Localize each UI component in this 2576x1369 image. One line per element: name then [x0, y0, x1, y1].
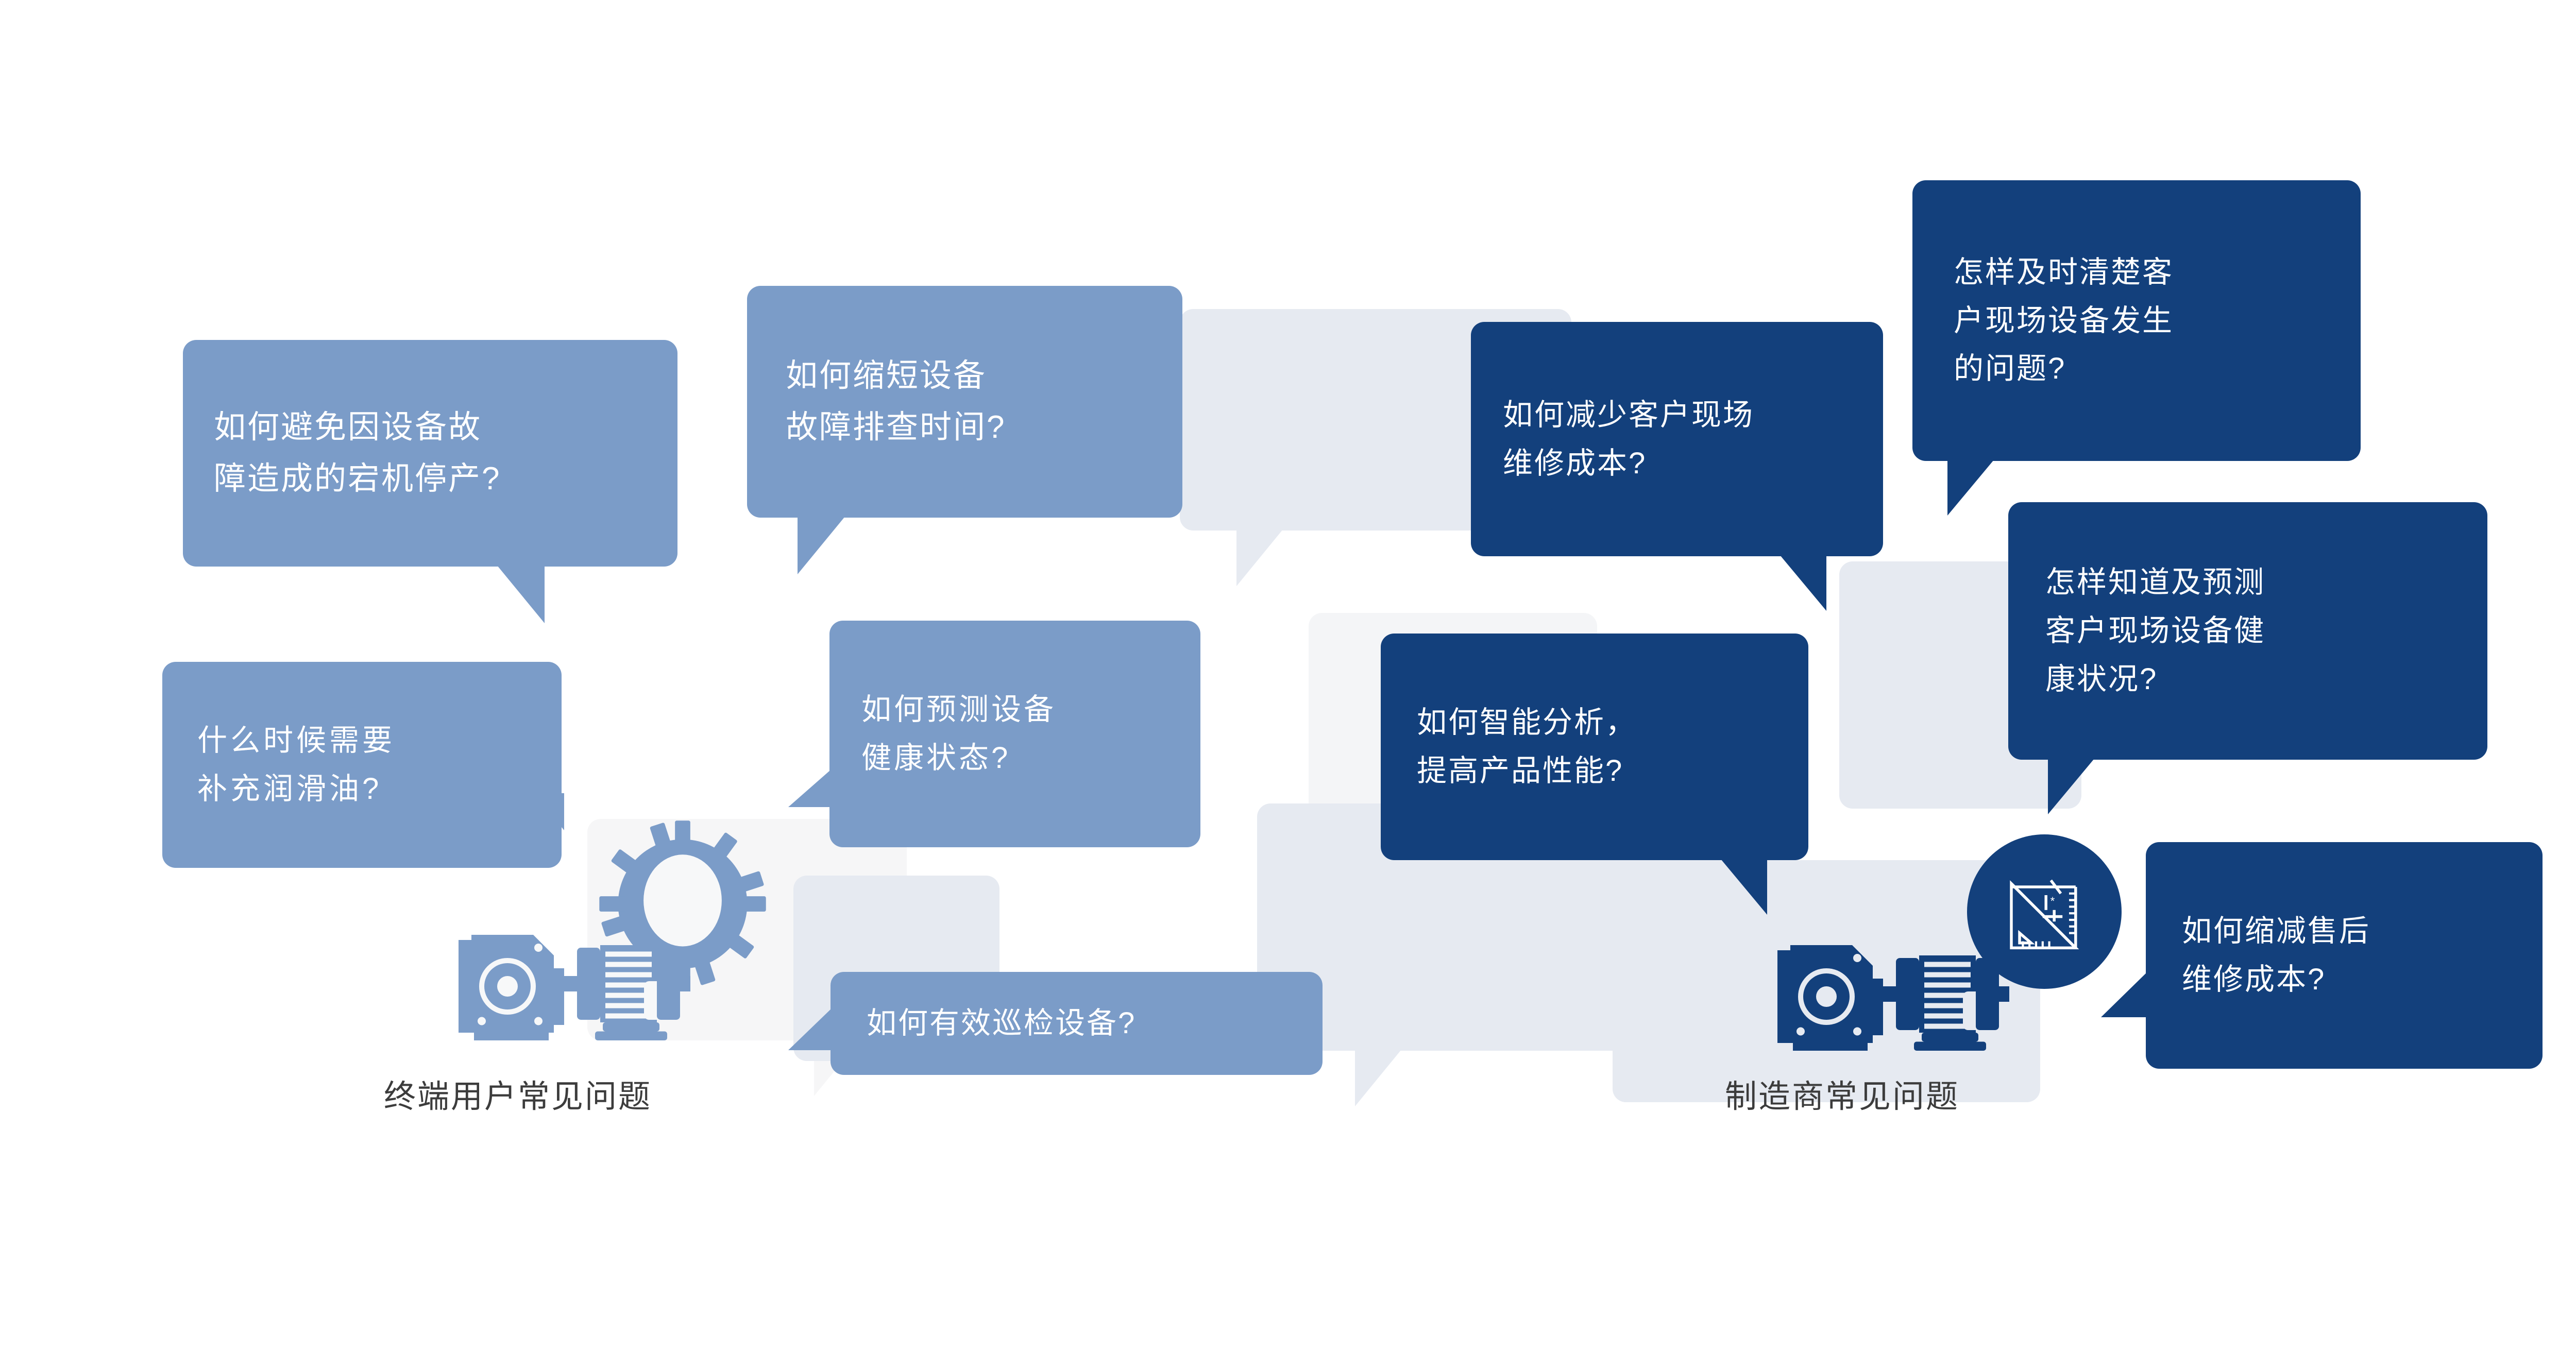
- bubble-text: 怎样及时清楚客 户现场设备发生 的问题?: [1954, 248, 2319, 393]
- bubble-tail: [533, 793, 564, 830]
- bubble-reduce-aftersales-cost[interactable]: 如何缩减售后 维修成本?: [2146, 842, 2543, 1069]
- bubble-text: 如何缩减售后 维修成本?: [2182, 907, 2506, 1004]
- gearmotor-icon: [453, 912, 726, 1040]
- caption-end-user: 终端用户常见问题: [384, 1070, 652, 1117]
- bubble-effective-inspection[interactable]: 如何有效巡检设备?: [831, 972, 1323, 1075]
- bubble-shorten-troubleshoot[interactable]: 如何缩短设备 故障排查时间?: [747, 286, 1182, 518]
- bubble-predict-onsite-health[interactable]: 怎样知道及预测 客户现场设备健 康状况?: [2008, 502, 2487, 760]
- bubble-lubricant-refill[interactable]: 什么时候需要 补充润滑油?: [162, 662, 562, 868]
- bubble-predict-health[interactable]: 如何预测设备 健康状态?: [829, 621, 1200, 847]
- bubble-text: 如何有效巡检设备?: [867, 999, 1286, 1048]
- svg-text:*: *: [2050, 895, 2055, 908]
- ghost-bubble-tail: [1236, 529, 1283, 586]
- bubble-text: 如何智能分析， 提高产品性能?: [1417, 698, 1772, 795]
- bubble-avoid-downtime[interactable]: 如何避免因设备故 障造成的宕机停产?: [183, 340, 677, 567]
- bubble-tail: [798, 517, 845, 574]
- caption-manufacturer: 制造商常见问题: [1725, 1070, 1959, 1117]
- bubble-tail: [1780, 555, 1826, 611]
- bubble-text: 怎样知道及预测 客户现场设备健 康状况?: [2045, 558, 2450, 704]
- bubble-smart-analysis[interactable]: 如何智能分析， 提高产品性能?: [1381, 634, 1808, 860]
- bubble-tail: [1721, 859, 1767, 915]
- bubble-tail: [788, 1008, 832, 1050]
- ghost-bubble-tail: [1355, 1050, 1401, 1106]
- bubble-text: 如何预测设备 健康状态?: [861, 686, 1168, 782]
- bubble-know-onsite-issues[interactable]: 怎样及时清楚客 户现场设备发生 的问题?: [1912, 180, 2361, 461]
- bubble-tail: [2101, 971, 2148, 1017]
- bubble-tail: [1947, 460, 1994, 516]
- bubble-reduce-onsite-repair-cost[interactable]: 如何减少客户现场 维修成本?: [1471, 322, 1883, 556]
- bubble-tail: [788, 770, 831, 807]
- bubble-text: 如何避免因设备故 障造成的宕机停产?: [214, 402, 647, 505]
- bubble-tail: [497, 566, 545, 623]
- drafting-tools-badge-icon: *: [1967, 834, 2122, 989]
- bubble-text: 如何减少客户现场 维修成本?: [1503, 391, 1851, 488]
- bubble-tail: [2048, 759, 2094, 814]
- infographic-canvas: * 如何避免因设备故 障造成的宕机停产? 如何缩短设备 故障排查时间? 什么时候…: [0, 0, 2576, 1369]
- bubble-text: 什么时候需要 补充润滑油?: [197, 716, 527, 813]
- bubble-text: 如何缩短设备 故障排查时间?: [786, 350, 1144, 454]
